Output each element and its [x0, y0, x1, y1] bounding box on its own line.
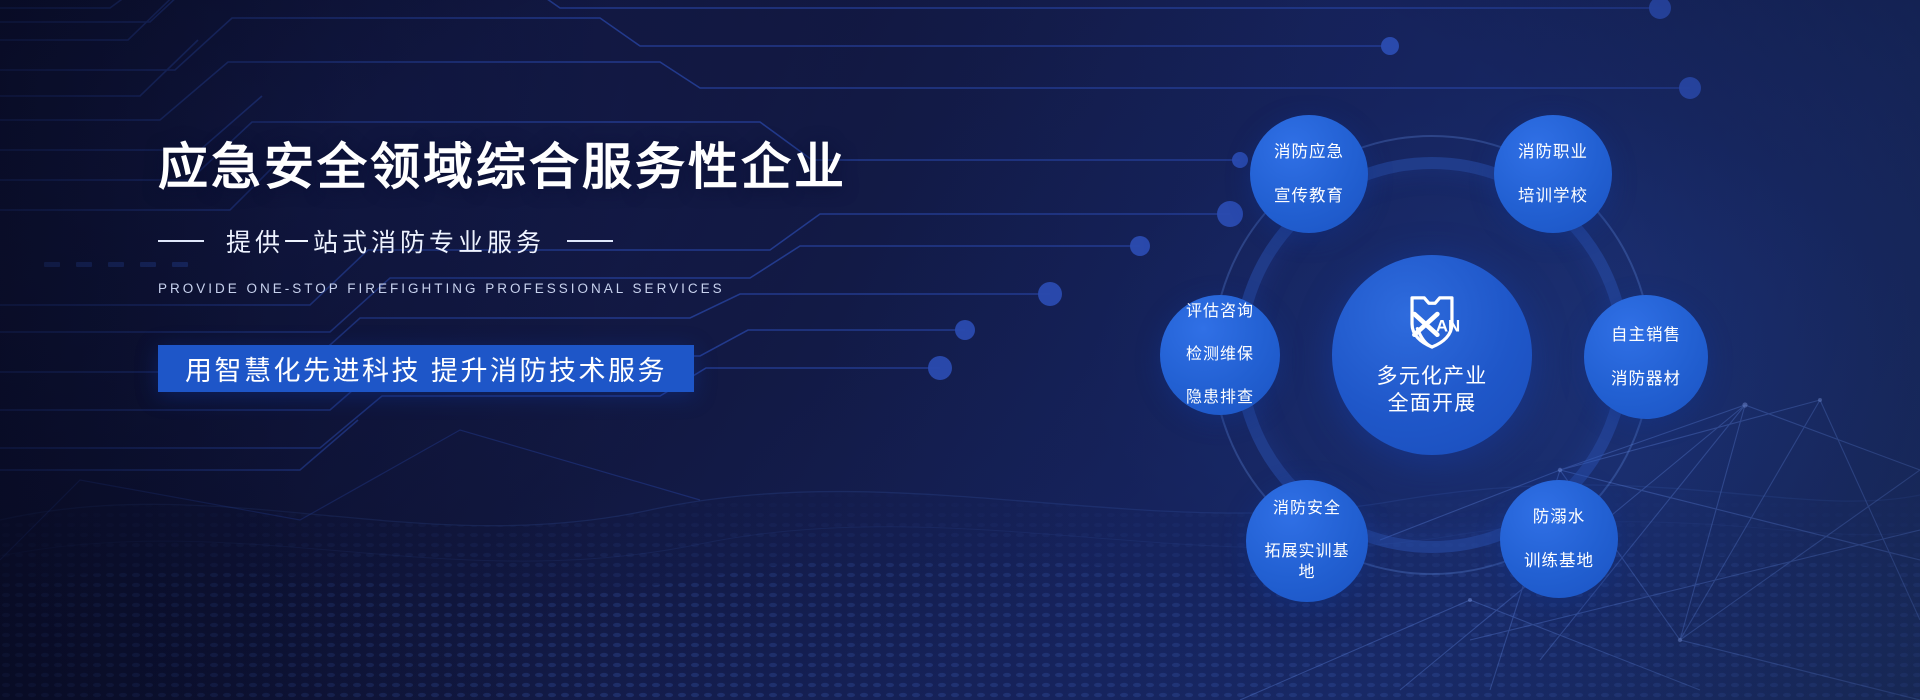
svg-text:AN: AN — [1436, 316, 1460, 335]
node-line1: 消防应急 — [1268, 141, 1350, 163]
node-line1: 防溺水 — [1518, 506, 1600, 528]
services-orbit-diagram: AN 多元化产业 全面开展 消防应急 宣传教育 消防职业 培训学校 自主销售 消… — [1182, 105, 1682, 605]
node-line1: 自主销售 — [1605, 324, 1687, 346]
node-line2: 消防器材 — [1605, 368, 1687, 390]
node-line2: 宣传教育 — [1268, 185, 1350, 207]
diagram-node-fire-emergency-education[interactable]: 消防应急 宣传教育 — [1250, 115, 1368, 233]
hero-copy-block: 应急安全领域综合服务性企业 提供一站式消防专业服务 PROVIDE ONE-ST… — [158, 138, 918, 392]
shield-icon: AN — [1399, 293, 1465, 355]
node-line3: 隐患排查 — [1180, 387, 1260, 408]
diagram-node-equipment-sales[interactable]: 自主销售 消防器材 — [1584, 295, 1708, 419]
hub-label: 多元化产业 全面开展 — [1377, 364, 1488, 418]
diagram-node-safety-training-base[interactable]: 消防安全 拓展实训基地 — [1246, 480, 1368, 602]
node-line1: 消防职业 — [1512, 141, 1594, 163]
page-title: 应急安全领域综合服务性企业 — [158, 138, 918, 197]
node-line2: 检测维保 — [1180, 344, 1260, 365]
node-line1: 消防安全 — [1252, 498, 1362, 519]
node-line2: 训练基地 — [1518, 550, 1600, 572]
cta-button[interactable]: 用智慧化先进科技 提升消防技术服务 — [158, 345, 694, 392]
rule-left-decoration — [158, 240, 204, 242]
hub-label-line2: 全面开展 — [1377, 391, 1488, 418]
hero-banner: 应急安全领域综合服务性企业 提供一站式消防专业服务 PROVIDE ONE-ST… — [0, 0, 1920, 700]
hub-label-line1: 多元化产业 — [1377, 364, 1488, 391]
node-line1: 评估咨询 — [1180, 301, 1260, 322]
hero-subtitle-text: 提供一站式消防专业服务 — [226, 223, 545, 259]
node-line2: 拓展实训基地 — [1252, 541, 1362, 584]
hero-eyebrow-english: PROVIDE ONE-STOP FIREFIGHTING PROFESSION… — [158, 281, 918, 296]
diagram-node-anti-drowning-base[interactable]: 防溺水 训练基地 — [1500, 480, 1618, 598]
diagram-node-vocational-training-school[interactable]: 消防职业 培训学校 — [1494, 115, 1612, 233]
diagram-hub[interactable]: AN 多元化产业 全面开展 — [1332, 255, 1532, 455]
diagram-node-assessment-inspection[interactable]: 评估咨询 检测维保 隐患排查 — [1160, 295, 1280, 415]
hero-subtitle: 提供一站式消防专业服务 — [158, 223, 918, 259]
node-line2: 培训学校 — [1512, 185, 1594, 207]
rule-right-decoration — [567, 240, 613, 242]
